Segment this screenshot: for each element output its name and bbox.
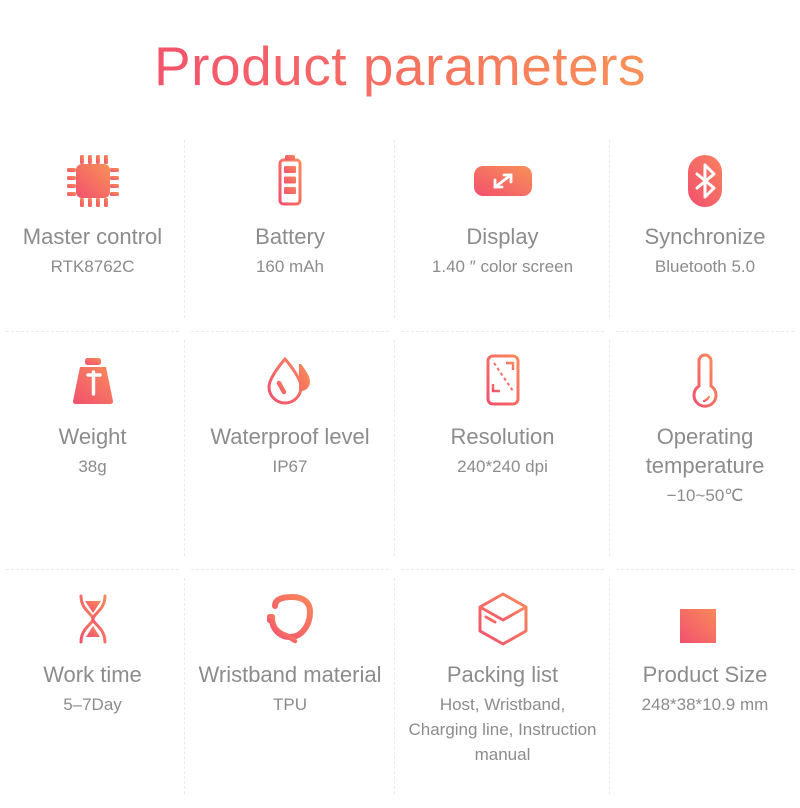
wristband-icon — [261, 588, 319, 650]
spec-label: Resolution — [451, 422, 555, 451]
spec-cell-product-size: Product Size 248*38*10.9 mm — [610, 570, 800, 808]
spec-value: 160 mAh — [256, 254, 324, 279]
hourglass-icon — [70, 588, 116, 650]
spec-label: Packing list — [447, 660, 558, 689]
spec-cell-packing-list: Packing list Host, Wristband, Charging l… — [395, 570, 610, 808]
spec-cell-resolution: Resolution 240*240 dpi — [395, 332, 610, 570]
spec-value: 240*240 dpi — [457, 454, 548, 479]
display-icon — [472, 150, 534, 212]
product-size-icon — [676, 588, 734, 650]
spec-cell-operating-temperature: Operating temperature −10~50℃ — [610, 332, 800, 570]
spec-cell-master-control: Master control RTK8762C — [0, 132, 185, 332]
spec-value: −10~50℃ — [667, 483, 744, 508]
spec-label: Waterproof level — [210, 422, 369, 451]
package-box-icon — [474, 588, 532, 650]
spec-value: 5–7Day — [63, 692, 122, 717]
spec-grid: Master control RTK8762C — [0, 132, 800, 808]
spec-cell-work-time: Work time 5–7Day — [0, 570, 185, 808]
chip-icon — [64, 150, 122, 212]
spec-label: Master control — [23, 222, 162, 251]
spec-value: 1.40 ″ color screen — [432, 254, 573, 279]
bluetooth-icon — [684, 150, 726, 212]
spec-label: Display — [466, 222, 538, 251]
spec-label: Synchronize — [644, 222, 765, 251]
spec-value: 248*38*10.9 mm — [642, 692, 769, 717]
spec-label: Operating temperature — [610, 422, 800, 480]
spec-value: Host, Wristband, Charging line, Instruct… — [405, 692, 600, 767]
spec-cell-battery: Battery 160 mAh — [185, 132, 395, 332]
spec-label: Work time — [43, 660, 142, 689]
spec-value: IP67 — [273, 454, 308, 479]
screen-resolution-icon — [481, 350, 525, 412]
spec-value: TPU — [273, 692, 307, 717]
spec-value: Bluetooth 5.0 — [655, 254, 755, 279]
page-title-container: Product parameters — [0, 0, 800, 132]
thermometer-icon — [685, 350, 725, 412]
water-drop-icon — [261, 350, 319, 412]
spec-cell-synchronize: Synchronize Bluetooth 5.0 — [610, 132, 800, 332]
spec-cell-weight: Weight 38g — [0, 332, 185, 570]
weight-icon — [67, 350, 119, 412]
spec-cell-waterproof: Waterproof level IP67 — [185, 332, 395, 570]
spec-cell-wristband-material: Wristband material TPU — [185, 570, 395, 808]
spec-label: Product Size — [643, 660, 768, 689]
battery-icon — [270, 150, 310, 212]
spec-value: 38g — [78, 454, 106, 479]
spec-label: Wristband material — [199, 660, 382, 689]
page-title: Product parameters — [154, 34, 646, 98]
product-parameters-page: Product parameters — [0, 0, 800, 808]
spec-label: Battery — [255, 222, 325, 251]
spec-label: Weight — [58, 422, 126, 451]
spec-cell-display: Display 1.40 ″ color screen — [395, 132, 610, 332]
spec-value: RTK8762C — [51, 254, 135, 279]
